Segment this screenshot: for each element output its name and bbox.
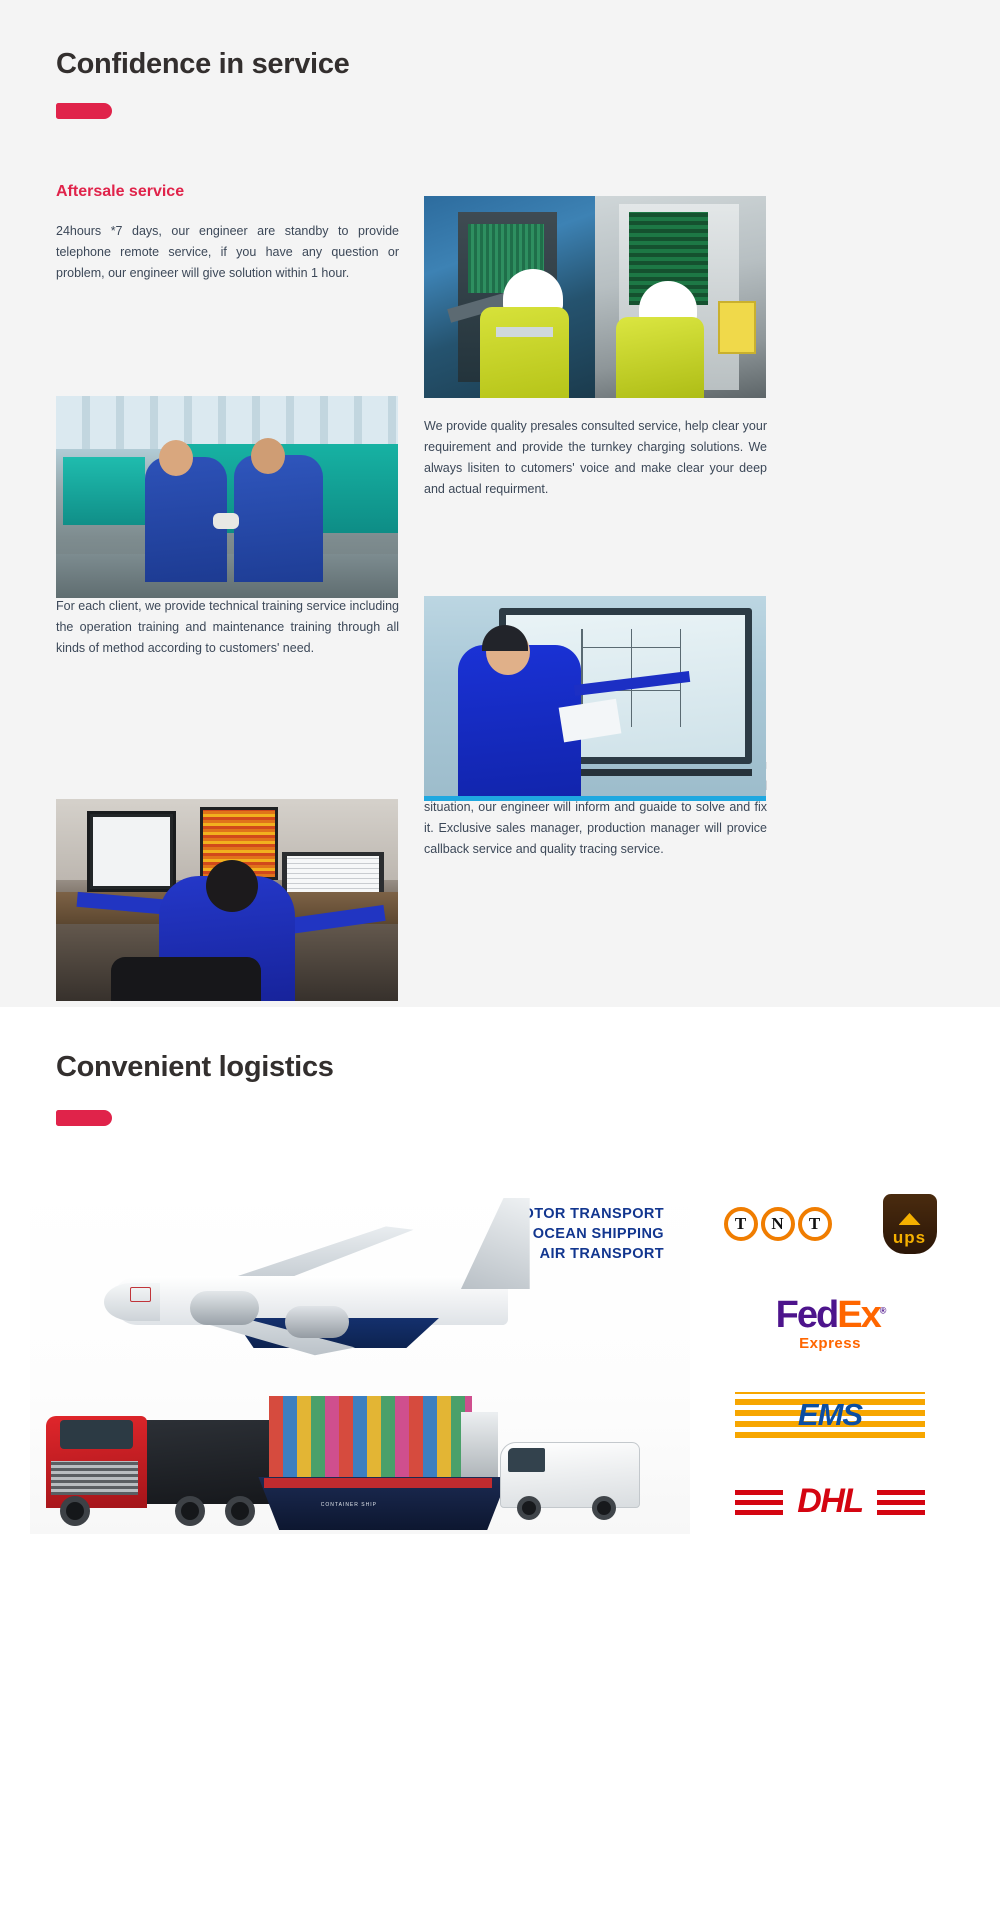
page-title: Confidence in service [0, 48, 1000, 81]
tnt-letter-1: T [724, 1207, 758, 1241]
truck-graphic [46, 1400, 276, 1528]
aftersale-photo [424, 196, 766, 398]
callback-photo [56, 799, 398, 1001]
dhl-right-stripes-icon [877, 1489, 925, 1515]
aftersale-title: Aftersale service [56, 183, 399, 201]
aftersale-body: 24hours *7 days, our engineer are standb… [56, 221, 399, 284]
ups-wordmark: ups [893, 1228, 926, 1248]
fedex-fed-text: Fed [776, 1294, 838, 1336]
container-ship-graphic: CONTAINER SHIP [248, 1390, 508, 1530]
dhl-wordmark: DHL [797, 1482, 862, 1521]
fedex-express-text: Express [776, 1336, 885, 1351]
delivery-van-graphic [500, 1430, 640, 1522]
fedex-ex-text: Ex [837, 1294, 879, 1336]
logistics-wrap: Convenient logistics MOTOR TRANSPORT OCE… [0, 1051, 1000, 1534]
fedex-logo: FedEx® Express [776, 1296, 885, 1351]
aftersale-text-column: Aftersale service 24hours *7 days, our e… [56, 183, 399, 284]
confidence-in-service-section: Confidence in service Aftersale service … [0, 0, 1000, 1007]
service-wrap: Confidence in service Aftersale service … [0, 48, 1000, 860]
logistics-panel: MOTOR TRANSPORT OCEAN SHIPPING AIR TRANS… [30, 1178, 970, 1534]
dhl-logo: DHL [735, 1480, 925, 1524]
ems-wordmark: EMS [735, 1392, 925, 1438]
ups-logo: ups [883, 1194, 937, 1254]
title-accent-bar [56, 103, 112, 119]
transport-collage: MOTOR TRANSPORT OCEAN SHIPPING AIR TRANS… [30, 1178, 690, 1534]
training-photo [424, 596, 766, 801]
courier-row-1: T N T ups [704, 1194, 956, 1254]
logistics-accent-bar [56, 1110, 112, 1126]
fedex-wordmark: FedEx® [776, 1296, 885, 1334]
ems-logo: EMS [735, 1392, 925, 1438]
presale-photo [56, 396, 398, 598]
training-body: For each client, we provide technical tr… [56, 596, 399, 659]
logistics-title: Convenient logistics [0, 1051, 1000, 1084]
airplane-graphic [104, 1196, 534, 1386]
courier-row-2: FedEx® Express [704, 1296, 956, 1351]
courier-row-3: EMS [704, 1392, 956, 1438]
tnt-letter-2: N [761, 1207, 795, 1241]
convenient-logistics-section: Convenient logistics MOTOR TRANSPORT OCE… [0, 1007, 1000, 1909]
ups-shield-icon [899, 1213, 921, 1225]
tnt-letter-3: T [798, 1207, 832, 1241]
ship-label: CONTAINER SHIP [321, 1502, 377, 1508]
dhl-left-stripes-icon [735, 1489, 783, 1515]
presale-body: We provide quality presales consulted se… [424, 416, 767, 500]
courier-logos: T N T ups FedEx® Express [690, 1178, 970, 1534]
courier-row-4: DHL [704, 1480, 956, 1524]
tnt-logo: T N T [724, 1207, 832, 1241]
registered-mark-icon: ® [880, 1305, 885, 1315]
